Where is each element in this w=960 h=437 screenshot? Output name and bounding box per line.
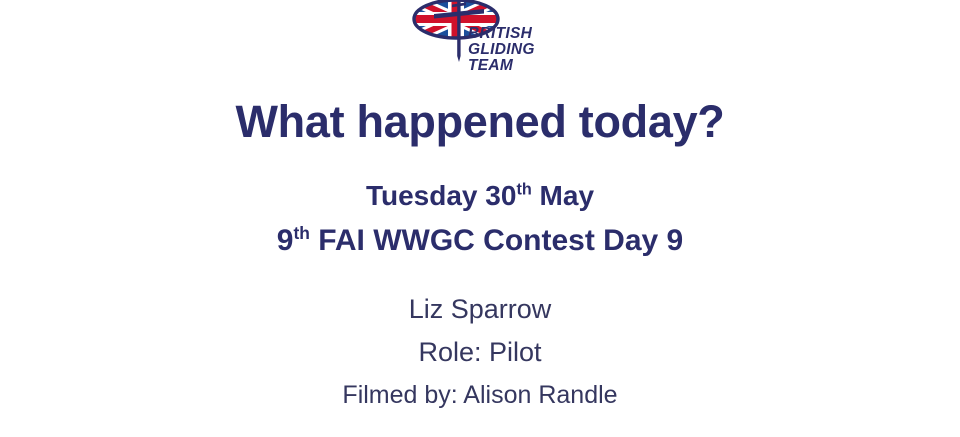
presenter-name: Liz Sparrow: [0, 294, 960, 325]
logo-word-british: BRITISH: [468, 25, 533, 42]
filmed-by-credit: Filmed by: Alison Randle: [0, 381, 960, 410]
slide-date-suffix: May: [532, 180, 594, 211]
bottom-cutoff-text: [0, 429, 960, 437]
logo-word-gliding: GLIDING: [468, 41, 535, 58]
presentation-slide: BRITISH GLIDING TEAM What happened today…: [0, 0, 960, 437]
slide-date: Tuesday 30th May: [0, 180, 960, 212]
bottom-cutoff-sliver: [0, 429, 960, 437]
slide-event: 9th FAI WWGC Contest Day 9: [0, 224, 960, 258]
british-gliding-team-logo-icon: BRITISH GLIDING TEAM: [410, 0, 550, 84]
logo-word-team: TEAM: [468, 57, 514, 74]
presenter-role: Role: Pilot: [0, 337, 960, 368]
slide-date-ordinal-suffix: th: [516, 181, 531, 199]
slide-date-prefix: Tuesday 30: [366, 180, 516, 211]
slide-event-prefix: 9: [277, 224, 294, 257]
logo-inner: BRITISH GLIDING TEAM: [410, 0, 550, 84]
slide-title: What happened today?: [0, 98, 960, 145]
slide-event-ordinal-suffix: th: [293, 223, 309, 243]
logo-block: BRITISH GLIDING TEAM: [0, 0, 960, 84]
slide-event-suffix: FAI WWGC Contest Day 9: [310, 224, 683, 257]
